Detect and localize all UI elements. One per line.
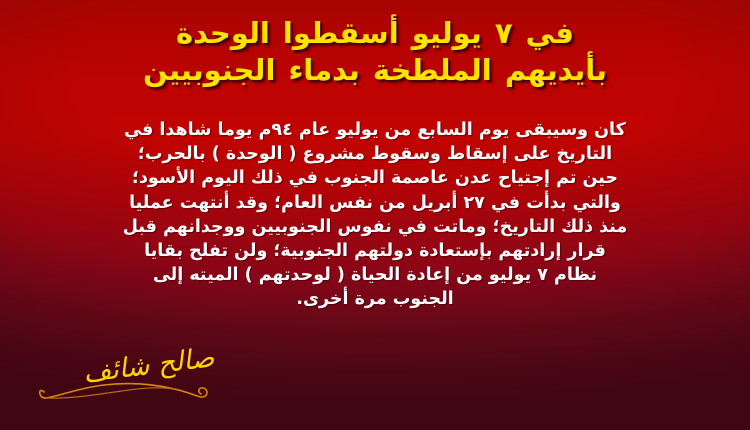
headline-line-2: بأيديهم الملطخة بدماء الجنوبيين	[18, 53, 732, 88]
headline: في ٧ يوليو أسقطوا الوحدة بأيديهم الملطخة…	[0, 16, 750, 89]
poster-canvas: في ٧ يوليو أسقطوا الوحدة بأيديهم الملطخة…	[0, 0, 750, 430]
body-paragraph: كان وسيبقى يوم السابع من يوليو عام ٩٤م ي…	[120, 118, 630, 312]
headline-line-1: في ٧ يوليو أسقطوا الوحدة	[18, 16, 732, 51]
signature-block: صالح شائف	[34, 344, 224, 408]
flourish-ornament-icon	[34, 378, 214, 406]
body-text: كان وسيبقى يوم السابع من يوليو عام ٩٤م ي…	[0, 118, 750, 312]
